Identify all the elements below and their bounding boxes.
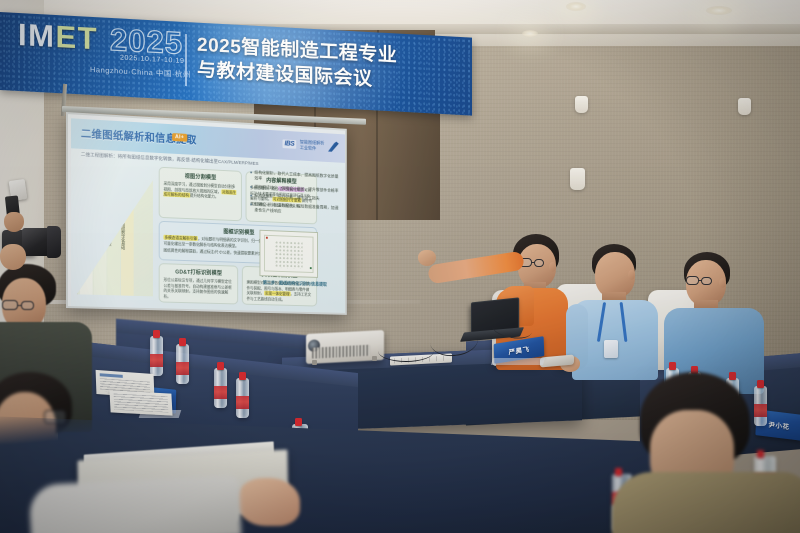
projector-foot-1	[312, 360, 317, 365]
slide-benefit-list: 结构化解析，取代人工成本、提高图纸数字化质量效率 消除解读歧义，保障设计意图，提…	[250, 169, 342, 219]
slide-left-column: 视觉信息结构化 标注语义关联 几何要素提取 图纸数字化基础 视图分割模型 采用深…	[77, 161, 244, 305]
nameplate-name: 尹小花	[768, 419, 789, 432]
foreground-white-sleeve	[29, 475, 242, 533]
drawing-sketch	[275, 241, 302, 269]
downlight-3	[522, 30, 538, 37]
pointing-hand	[418, 250, 436, 266]
drawing-marker-1	[265, 237, 267, 239]
ear	[719, 278, 726, 288]
water-bottle	[236, 378, 249, 418]
card-text: 采用深度学习，通过视图划分模型自动分割多视图、剖视与局部放大视图的区域，对版面生…	[164, 181, 238, 201]
drawing-caption: 第二步：图纸结构化识别与信息提取	[250, 280, 340, 289]
glasses-bridge	[698, 280, 702, 281]
lanyard-badge	[604, 340, 618, 358]
projector-foot-2	[372, 356, 377, 361]
water-bottle	[150, 336, 163, 376]
glasses-icon-right	[534, 259, 544, 267]
drawing-marker-2	[309, 267, 311, 269]
downlight-2	[566, 2, 586, 11]
card-text-post: 提升结构化能力。	[190, 193, 219, 199]
slide-right-column: 结构化解析，取代人工成本、提高图纸数字化质量效率 消除解读歧义，保障设计意图，提…	[248, 169, 342, 307]
glasses-icon-right	[21, 301, 34, 310]
banner-right-block: 2025智能制造工程专业 与教材建设国际会议	[197, 33, 397, 95]
downlight-1	[706, 6, 732, 15]
slide-card-view-segmentation: 视图分割模型 采用深度学习，通过视图划分模型自动分割多视图、剖视与局部放大视图的…	[159, 167, 242, 222]
torso	[612, 472, 800, 533]
projector-vents	[312, 345, 370, 359]
handout-paper	[109, 390, 172, 415]
water-bottle	[754, 386, 767, 426]
banner-divider	[185, 34, 187, 86]
glasses-icon	[2, 300, 18, 310]
card-text: 形位公差标注专项，通过几何学习模型定位公差与基准符号，自动构建基准框与公差框的关…	[164, 277, 234, 301]
projection-screen: 二维图纸解析和信息提取 AI+ IBS 智能图纸解析 工业软件 二维工程图解析：…	[66, 112, 347, 315]
slide-card-gdt-recognition: GD&T打标识别模型 形位公差标注专项，通过几何学习模型定位公差与基准符号，自动…	[159, 263, 238, 304]
nameplate-stand-1	[491, 358, 545, 365]
glasses-bridge	[17, 305, 22, 306]
slide-body: 视觉信息结构化 标注语义关联 几何要素提取 图纸数字化基础 视图分割模型 采用深…	[77, 161, 342, 308]
water-bottle	[176, 344, 189, 384]
pyramid-diagram: 视觉信息结构化 标注语义关联 几何要素提取 图纸数字化基础	[77, 177, 153, 297]
wall-sensor-1	[575, 96, 588, 113]
logo-company-name: 智能图纸解析 工业软件	[300, 139, 324, 151]
camera-lens-hood	[47, 226, 61, 258]
logo-mark-text: IBS	[283, 140, 297, 149]
card-heading: GD&T打标识别模型	[164, 267, 234, 277]
nameplate-name: 严昊飞	[508, 343, 529, 356]
technical-drawing-thumbnail	[259, 230, 318, 278]
paper-lines	[114, 394, 169, 413]
wall-sensor-2	[738, 98, 751, 115]
pyramid-band-2: 标注语义关联	[94, 177, 107, 295]
pyramid-band-4: 图纸数字化基础	[121, 179, 134, 296]
swoosh-icon	[328, 141, 339, 152]
slide-badge: AI+	[172, 133, 187, 142]
foreground-hand	[238, 478, 300, 526]
banner-acronym-et: ET	[55, 19, 98, 56]
water-bottle	[214, 368, 227, 408]
list-item: 打通设计—制造数据流，缩短数据准备周期，加速柔性生产线响应	[250, 201, 342, 217]
pyramid-band-3: 几何要素提取	[107, 178, 120, 295]
wall-sensor-3	[570, 168, 585, 190]
glasses-bridge	[531, 262, 535, 263]
projector-cable-1	[378, 340, 434, 362]
pyramid-band-1: 视觉信息结构化	[80, 177, 93, 295]
list-item: 结构化解析，取代人工成本、提高图纸数字化质量效率	[250, 169, 342, 186]
photographer-hand	[0, 244, 26, 270]
ear	[549, 262, 556, 272]
photographer-hand-2	[4, 212, 24, 232]
presentation-slide: 二维图纸解析和信息提取 AI+ IBS 智能图纸解析 工业软件 二维工程图解析：…	[71, 118, 346, 313]
logo-sub-cn: 工业软件	[300, 145, 316, 151]
banner-acronym-im: IM	[18, 17, 55, 54]
paper-accent	[100, 373, 123, 378]
glasses-icon-right	[701, 277, 712, 285]
ear	[628, 270, 635, 280]
conference-room-scene: IMET 2025 2025.10.17-10.19 Hangzhou·Chin…	[0, 0, 800, 533]
